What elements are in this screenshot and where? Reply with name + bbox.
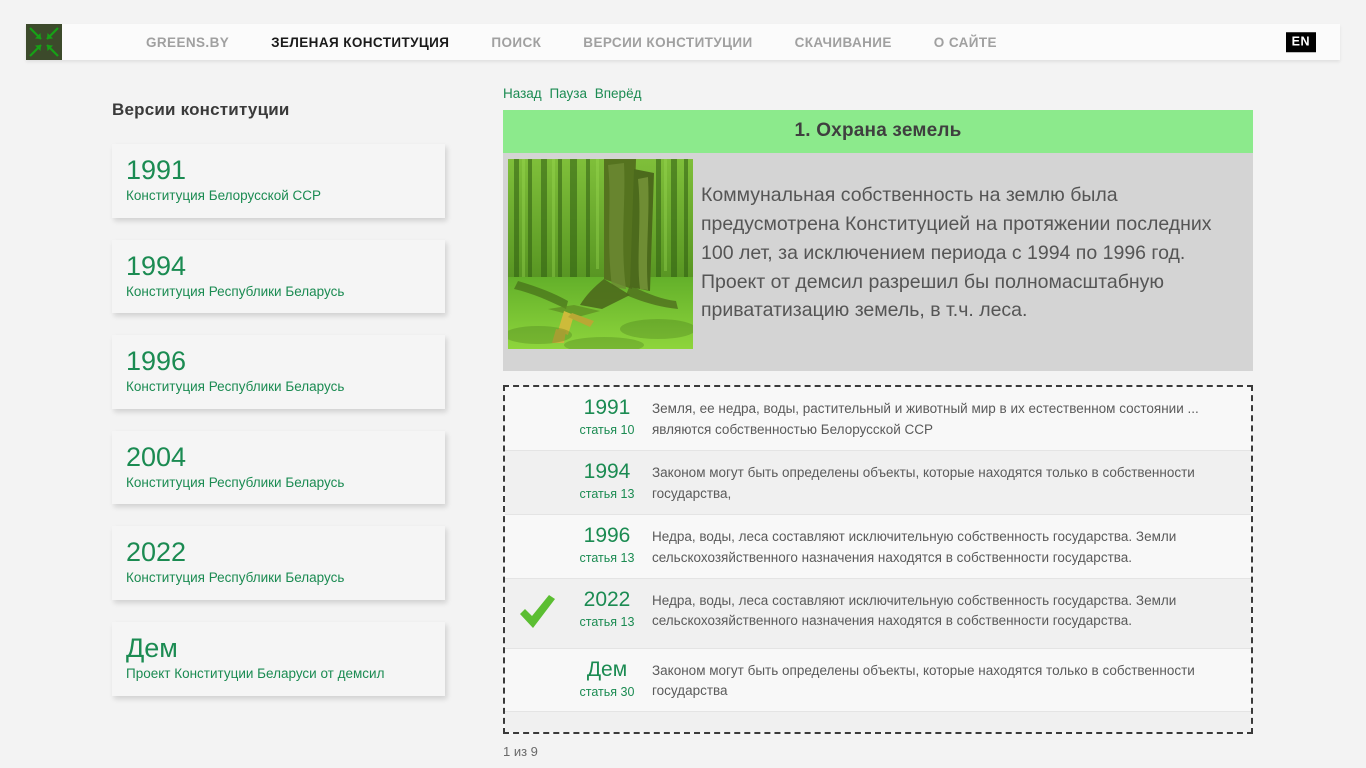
nav-link-about[interactable]: О САЙТЕ: [934, 35, 997, 50]
table-row[interactable]: 2022 статья 13 Недра, воды, леса составл…: [505, 579, 1251, 649]
row-check-slot: [505, 524, 569, 528]
table-row[interactable]: 1991 статья 10 Земля, ее недра, воды, ра…: [505, 387, 1251, 451]
row-article: статья 30: [569, 684, 645, 700]
row-check-slot: [505, 658, 569, 662]
row-year: Дем: [569, 658, 645, 682]
row-version: 2022 статья 13: [569, 588, 651, 630]
row-text: Недра, воды, леса составляют исключитель…: [651, 524, 1251, 569]
nav-links: GREENS.BY ЗЕЛЕНАЯ КОНСТИТУЦИЯ ПОИСК ВЕРС…: [146, 35, 997, 50]
nav-link-constitution-versions[interactable]: ВЕРСИИ КОНСТИТУЦИИ: [583, 35, 752, 50]
sidebar: Версии конституции 1991 Конституция Бело…: [112, 100, 460, 718]
forest-photo: [508, 159, 693, 349]
row-year: 1994: [569, 460, 645, 484]
version-year: 1991: [126, 155, 445, 186]
language-switch-button[interactable]: EN: [1286, 32, 1316, 52]
sidebar-item-2004[interactable]: 2004 Конституция Республики Беларусь: [112, 431, 445, 505]
row-text: Земля, ее недра, воды, растительный и жи…: [651, 396, 1251, 441]
row-article: статья 10: [569, 422, 645, 438]
row-year: 1991: [569, 396, 645, 420]
sidebar-item-1991[interactable]: 1991 Конституция Белорусской ССР: [112, 144, 445, 218]
row-text: Недра, воды, леса составляют исключитель…: [651, 588, 1251, 633]
main-content: Назад Пауза Вперёд 1. Охрана земель: [503, 86, 1253, 759]
top-navbar: GREENS.BY ЗЕЛЕНАЯ КОНСТИТУЦИЯ ПОИСК ВЕРС…: [26, 24, 1340, 60]
sidebar-item-2022[interactable]: 2022 Конституция Республики Беларусь: [112, 526, 445, 600]
slide-text: Коммунальная собственность на землю была…: [701, 153, 1253, 343]
inward-arrows-logo-icon[interactable]: [26, 24, 62, 60]
sidebar-item-1996[interactable]: 1996 Конституция Республики Беларусь: [112, 335, 445, 409]
sidebar-title: Версии конституции: [112, 100, 460, 120]
row-check-slot: [505, 396, 569, 400]
version-description: Конституция Республики Беларусь: [126, 569, 445, 587]
version-year: 1996: [126, 346, 445, 377]
table-row[interactable]: 1996 статья 13 Недра, воды, леса составл…: [505, 515, 1251, 579]
nav-link-download[interactable]: СКАЧИВАНИЕ: [795, 35, 892, 50]
table-row-empty: [505, 712, 1251, 732]
pager-status: 1 из 9: [503, 744, 1253, 759]
version-description: Конституция Республики Беларусь: [126, 378, 445, 396]
version-year: 2004: [126, 442, 445, 473]
sidebar-item-1994[interactable]: 1994 Конституция Республики Беларусь: [112, 240, 445, 314]
slide-body: Коммунальная собственность на землю была…: [503, 153, 1253, 371]
version-year: 2022: [126, 537, 445, 568]
version-description: Конституция Белорусской ССР: [126, 187, 445, 205]
row-version: 1994 статья 13: [569, 460, 651, 502]
playback-back-button[interactable]: Назад: [503, 86, 542, 101]
table-row[interactable]: Дем статья 30 Законом могут быть определ…: [505, 649, 1251, 713]
row-version: 1996 статья 13: [569, 524, 651, 566]
version-year: 1994: [126, 251, 445, 282]
row-text: Законом могут быть определены объекты, к…: [651, 460, 1251, 505]
playback-forward-button[interactable]: Вперёд: [595, 86, 642, 101]
green-checkmark-icon: [505, 588, 569, 639]
row-article: статья 13: [569, 550, 645, 566]
slide-title: 1. Охрана земель: [503, 110, 1253, 153]
row-year: 2022: [569, 588, 645, 612]
comparison-table: 1991 статья 10 Земля, ее недра, воды, ра…: [503, 385, 1253, 734]
version-year: Дем: [126, 633, 445, 664]
row-article: статья 13: [569, 614, 645, 630]
version-description: Конституция Республики Беларусь: [126, 283, 445, 301]
version-description: Проект Конституции Беларуси от демсил: [126, 665, 445, 683]
nav-link-green-constitution[interactable]: ЗЕЛЕНАЯ КОНСТИТУЦИЯ: [271, 35, 449, 50]
version-description: Конституция Республики Беларусь: [126, 474, 445, 492]
nav-link-search[interactable]: ПОИСК: [491, 35, 541, 50]
row-article: статья 13: [569, 486, 645, 502]
row-version: Дем статья 30: [569, 658, 651, 700]
row-year: 1996: [569, 524, 645, 548]
sidebar-item-dem[interactable]: Дем Проект Конституции Беларуси от демси…: [112, 622, 445, 696]
row-version: 1991 статья 10: [569, 396, 651, 438]
playback-pause-button[interactable]: Пауза: [549, 86, 587, 101]
row-check-slot: [505, 460, 569, 464]
table-row[interactable]: 1994 статья 13 Законом могут быть опреде…: [505, 451, 1251, 515]
row-text: Законом могут быть определены объекты, к…: [651, 658, 1251, 703]
playback-controls: Назад Пауза Вперёд: [503, 86, 1253, 102]
nav-link-greens-by[interactable]: GREENS.BY: [146, 35, 229, 50]
